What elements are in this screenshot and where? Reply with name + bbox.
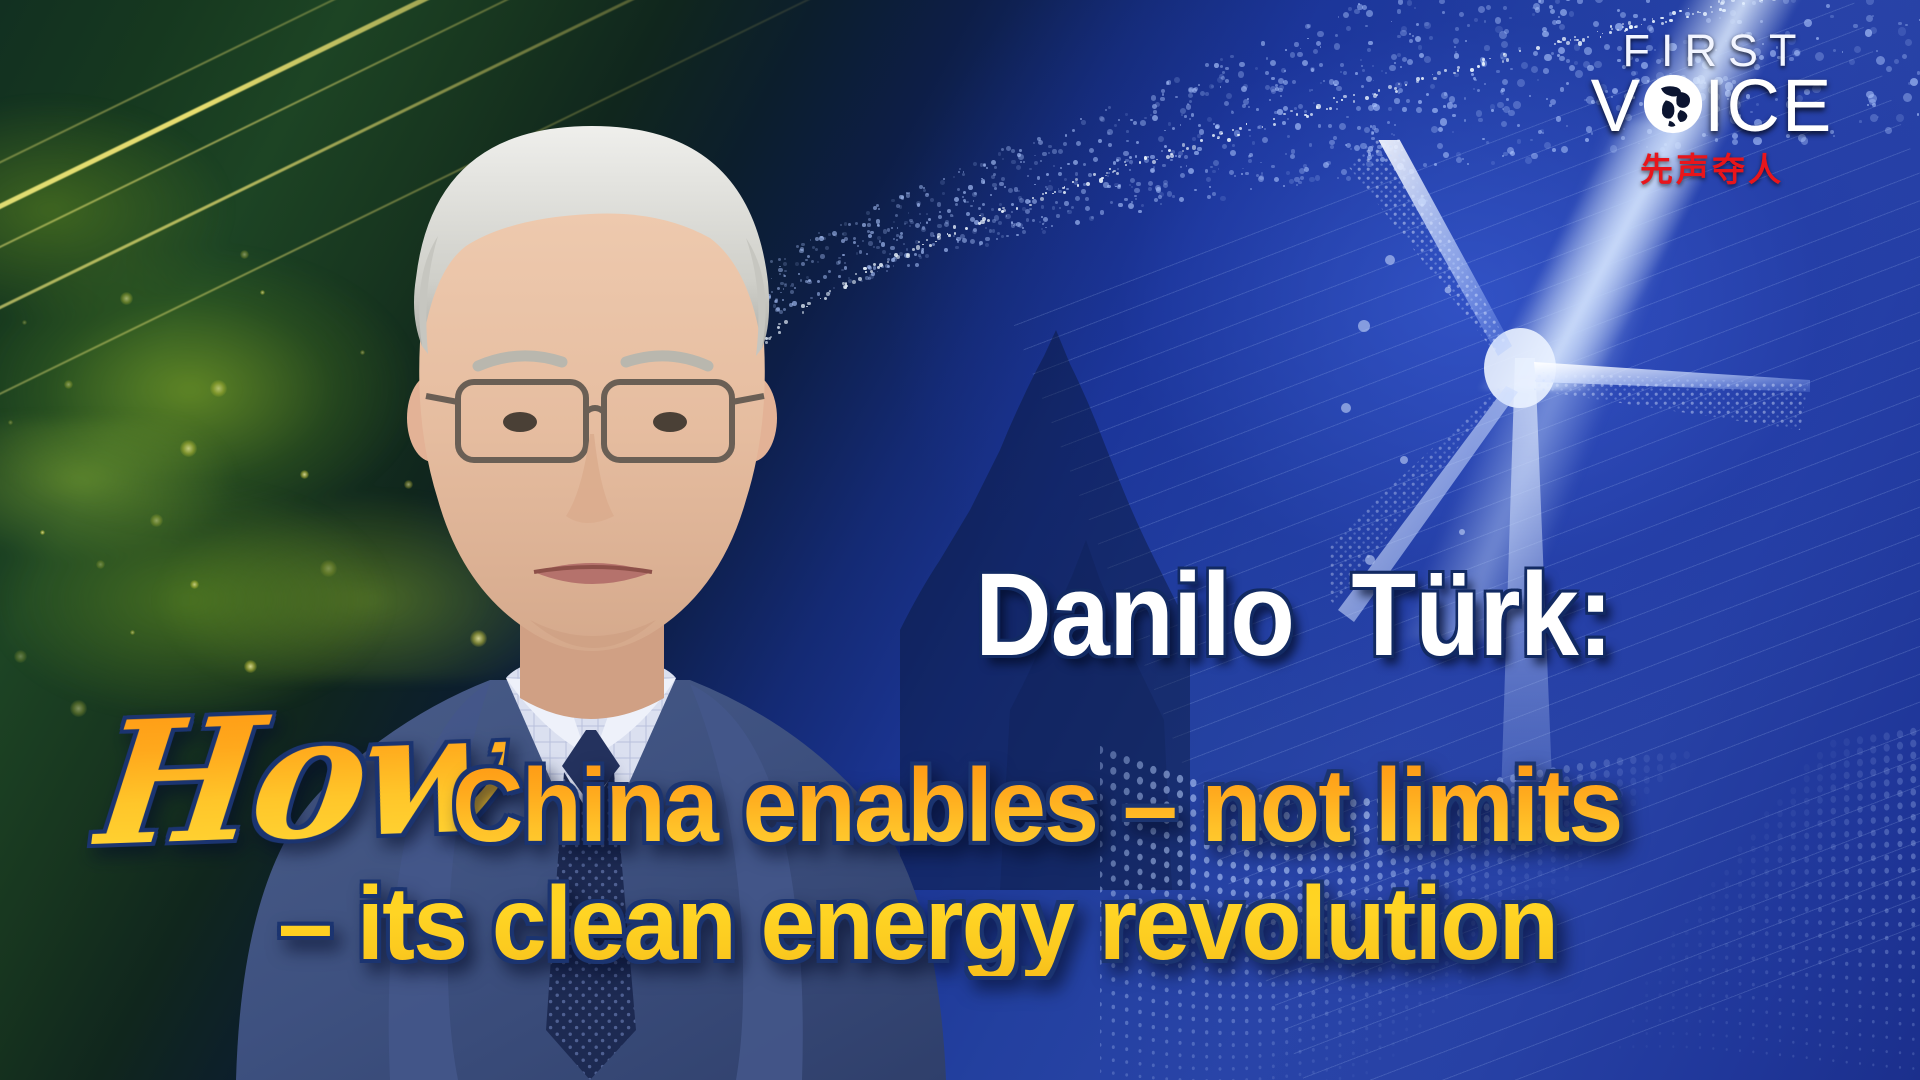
- speaker-name: Danilo Türk:: [975, 549, 1612, 681]
- logo-voice-v: V: [1591, 71, 1642, 141]
- logo-voice-row: V ICE: [1562, 71, 1862, 141]
- first-voice-logo[interactable]: FIRST V ICE 先声夺人: [1562, 28, 1862, 191]
- logo-chinese-tagline: 先声夺人: [1562, 143, 1862, 191]
- poster-canvas: FIRST V ICE 先声夺人 Danilo Türk: How China …: [0, 0, 1920, 1080]
- headline-line-1: China enables – not limits: [452, 754, 1621, 858]
- page-title: Danilo Türk:: [975, 556, 1612, 674]
- globe-icon: [1643, 74, 1703, 134]
- headline-line-2: – its clean energy revolution: [278, 872, 1557, 976]
- script-word-how: How: [88, 686, 513, 870]
- logo-voice-ice: ICE: [1704, 71, 1833, 141]
